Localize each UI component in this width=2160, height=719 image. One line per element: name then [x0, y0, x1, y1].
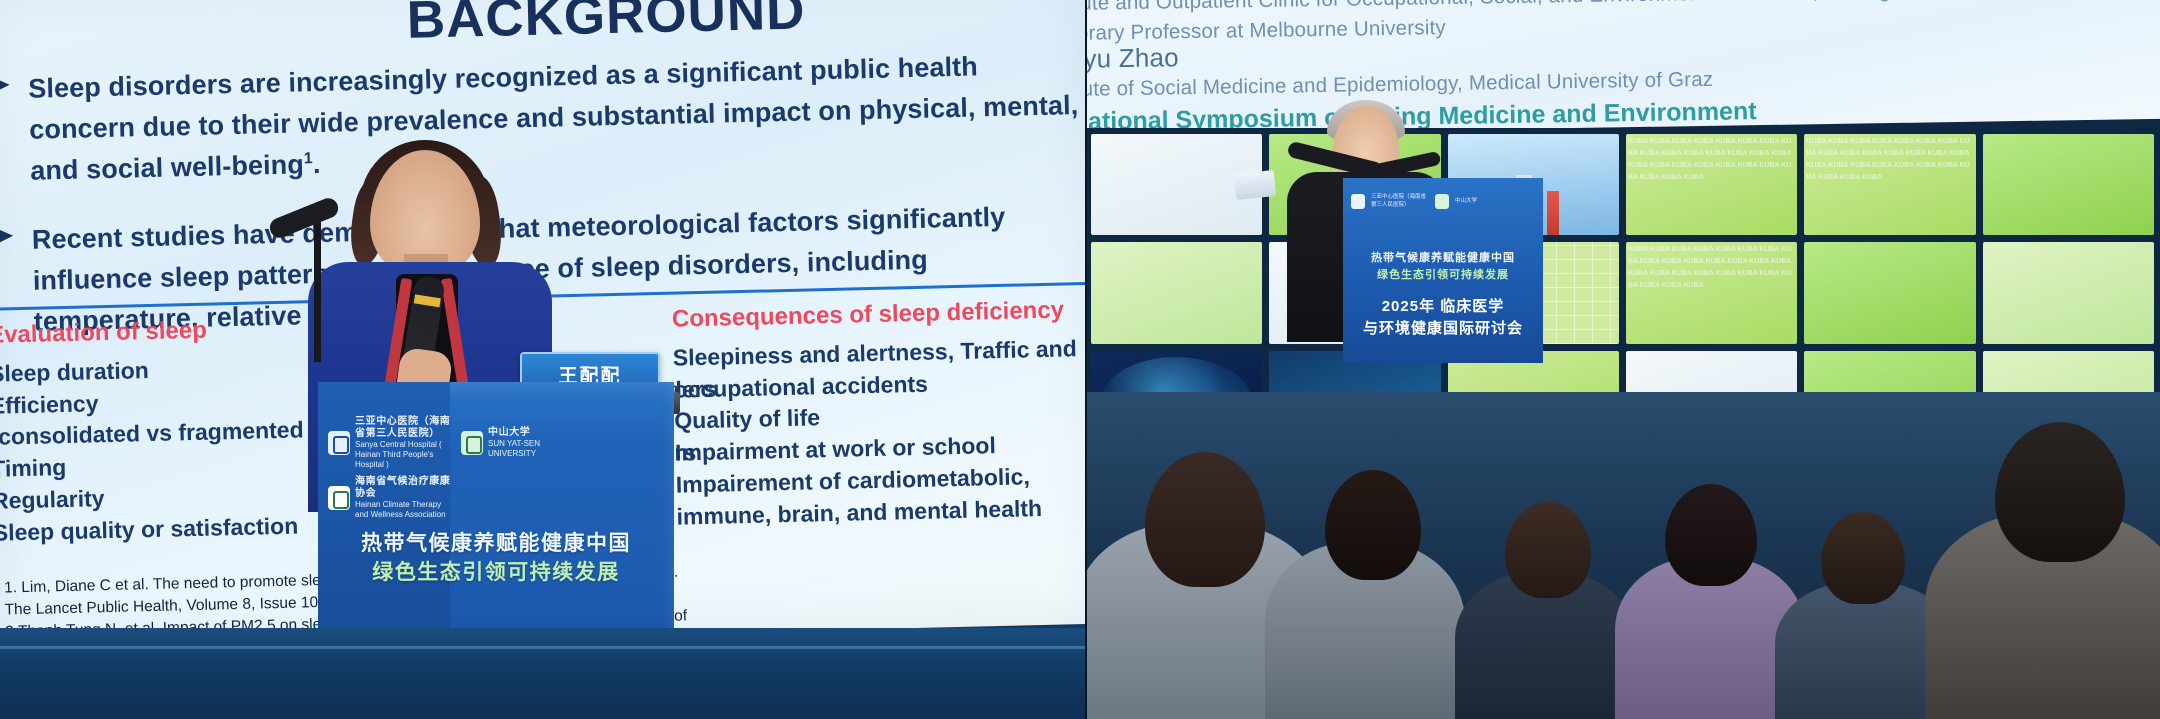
- left-stage-floor: [0, 628, 1085, 719]
- podium-logo: 三亚中心医院（海南省第三人民医院） Sanya Central Hospital…: [328, 416, 451, 470]
- podium-slogan: 热带气候康养赋能健康中国 绿色生态引领可持续发展: [1343, 250, 1543, 283]
- affiliation-line-2: onorary Professor at Melbourne Universit…: [1085, 16, 1446, 46]
- affiliation-line-3: stitute of Social Medicine and Epidemiol…: [1085, 68, 1713, 102]
- wall-tile: KUBA KUBA KUBA KUBA KUBA KUBA KUBA KUBA …: [1626, 242, 1797, 343]
- wall-watermark: KUBA KUBA KUBA KUBA KUBA KUBA KUBA KUBA …: [1626, 134, 1797, 235]
- podium-slogan-line2: 绿色生态引领可持续发展: [1343, 267, 1543, 284]
- podium-title-line1: 2025年 临床医学: [1343, 296, 1543, 318]
- podium-logo-row: 三亚中心医院（海南省第三人民医院） Sanya Central Hospital…: [328, 416, 668, 520]
- microphone-stand-icon: [268, 200, 388, 360]
- podium-slogan-line1: 热带气候康养赋能健康中国: [1343, 250, 1543, 267]
- podium-logo-cn: 中山大学: [1455, 198, 1477, 205]
- podium-logo-cn: 三亚中心医院（海南省第三人民医院）: [355, 416, 451, 440]
- panel-item: immune, brain, and mental health: [676, 494, 983, 533]
- podium-logo-en: Sanya Central Hospital ( Hainan Third Pe…: [355, 440, 442, 469]
- university-logo-icon: [461, 431, 483, 455]
- podium-logo: 海南省气候治疗康康协会 Hainan Climate Therapy and W…: [328, 476, 451, 520]
- podium-title-line2: 与环境健康国际研讨会: [1343, 318, 1543, 340]
- wall-tile: [1983, 242, 2154, 343]
- wall-tile: [1804, 242, 1975, 343]
- right-projected-slide: stitute and Outpatient Clinic for Occupa…: [1085, 0, 2160, 136]
- slide-title: BACKGROUND: [406, 0, 806, 51]
- podium-slogan: 热带气候康养赋能健康中国 绿色生态引领可持续发展: [318, 530, 674, 587]
- podium-event-title: 2025年 临床医学 与环境健康国际研讨会: [1343, 296, 1543, 340]
- audience-head: [1505, 502, 1591, 598]
- wall-watermark: KUBA KUBA KUBA KUBA KUBA KUBA KUBA KUBA …: [1626, 242, 1797, 343]
- association-logo-icon: [328, 486, 350, 510]
- podium-logo-row: 三亚中心医院（海南省第三人民医院） 中山大学: [1351, 194, 1535, 209]
- podium-logo-cn: 中山大学: [488, 427, 584, 439]
- wall-tile: KUBA KUBA KUBA KUBA KUBA KUBA KUBA KUBA …: [1804, 134, 1975, 235]
- slide-speaker-name: anyu Zhao: [1085, 42, 1179, 75]
- right-podium: 三亚中心医院（海南省第三人民医院） 中山大学 热带气候康养赋能健康中国 绿色生态…: [1343, 178, 1543, 363]
- podium-logo-en: Hainan Climate Therapy and Wellness Asso…: [355, 500, 446, 519]
- panel-item: Sleep quality or satisfaction: [0, 510, 323, 550]
- wall-watermark: KUBA KUBA KUBA KUBA KUBA KUBA KUBA KUBA …: [1804, 134, 1975, 235]
- arrow-bullet-icon: ➤: [0, 69, 17, 193]
- audience-area: [1085, 392, 2160, 719]
- audience-head: [1821, 512, 1905, 604]
- university-logo-icon: [1435, 194, 1449, 209]
- podium-logo: 中山大学 SUN YAT-SEN UNIVERSITY: [461, 427, 584, 459]
- podium-logo-cn: 海南省气候治疗康康协会: [355, 476, 451, 500]
- photo-divider: [1085, 0, 1087, 719]
- hospital-logo-icon: [1351, 194, 1365, 209]
- wall-tile: KUBA KUBA KUBA KUBA KUBA KUBA KUBA KUBA …: [1626, 134, 1797, 235]
- podium-logo-en: SUN YAT-SEN UNIVERSITY: [488, 439, 540, 458]
- hospital-logo-icon: [328, 431, 350, 455]
- wall-tile: [1983, 134, 2154, 235]
- wall-tile: [1091, 242, 1262, 343]
- composite-stage: BACKGROUND ➤ Sleep disorders are increas…: [0, 0, 2160, 719]
- podium-slogan-line2: 绿色生态引领可持续发展: [318, 559, 674, 588]
- tablet-device: [1234, 170, 1276, 200]
- left-conference-photo: BACKGROUND ➤ Sleep disorders are increas…: [0, 0, 1085, 719]
- right-conference-photo: stitute and Outpatient Clinic for Occupa…: [1085, 0, 2160, 719]
- podium-slogan-line1: 热带气候康养赋能健康中国: [318, 530, 674, 559]
- affiliation-line-1: stitute and Outpatient Clinic for Occupa…: [1085, 0, 1958, 16]
- panel-heading: Consequences of sleep deficiency: [672, 298, 979, 333]
- podium-logo-cn: 三亚中心医院（海南省第三人民医院）: [1371, 194, 1429, 208]
